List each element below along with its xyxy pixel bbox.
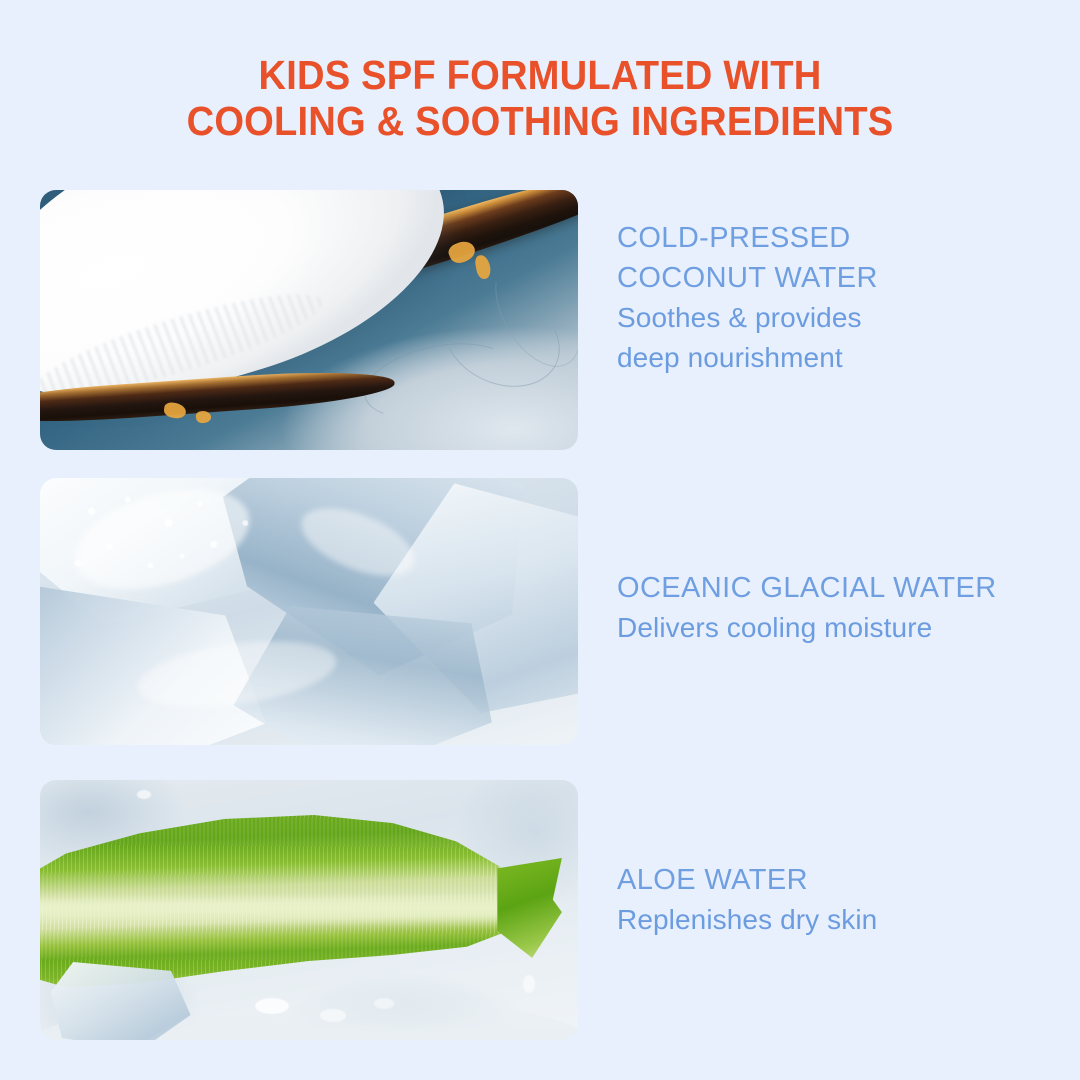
coconut-fiber-shape [474,254,492,280]
ingredient-desc-line-1: Soothes & provides [617,298,1037,338]
coconut-fiber-shape [195,410,211,424]
page-title-line-2: COOLING & SOOTHING INGREDIENTS [38,98,1042,144]
page-title-line-1: KIDS SPF FORMULATED WITH [38,52,1042,98]
ingredient-desc-line-2: deep nourishment [617,338,1037,378]
water-droplet-icon [374,998,394,1009]
ingredient-image-ice [40,478,578,745]
ingredient-text-coconut: COLD-PRESSED COCONUT WATER Soothes & pro… [617,218,1037,378]
ingredient-image-aloe [40,780,578,1040]
ingredient-desc-line-1: Replenishes dry skin [617,900,1037,940]
ingredient-name-line-1: OCEANIC GLACIAL WATER [617,568,1037,608]
water-droplet-icon [255,998,289,1014]
ingredient-row-coconut: COLD-PRESSED COCONUT WATER Soothes & pro… [0,190,1080,450]
water-droplet-icon [320,1009,346,1022]
ingredient-row-aloe: ALOE WATER Replenishes dry skin [0,780,1080,1040]
ingredient-desc-line-1: Delivers cooling moisture [617,608,1037,648]
ingredient-text-glacial-water: OCEANIC GLACIAL WATER Delivers cooling m… [617,568,1037,648]
ingredient-image-coconut [40,190,578,450]
ingredient-name-line-1: ALOE WATER [617,860,1037,900]
ice-shard-shape [51,962,191,1040]
ingredient-name-line-2: COCONUT WATER [617,258,1037,298]
ingredient-name-line-1: COLD-PRESSED [617,218,1037,258]
ingredient-row-glacial-water: OCEANIC GLACIAL WATER Delivers cooling m… [0,478,1080,745]
ingredient-text-aloe: ALOE WATER Replenishes dry skin [617,860,1037,940]
page-title: KIDS SPF FORMULATED WITH COOLING & SOOTH… [38,52,1042,144]
